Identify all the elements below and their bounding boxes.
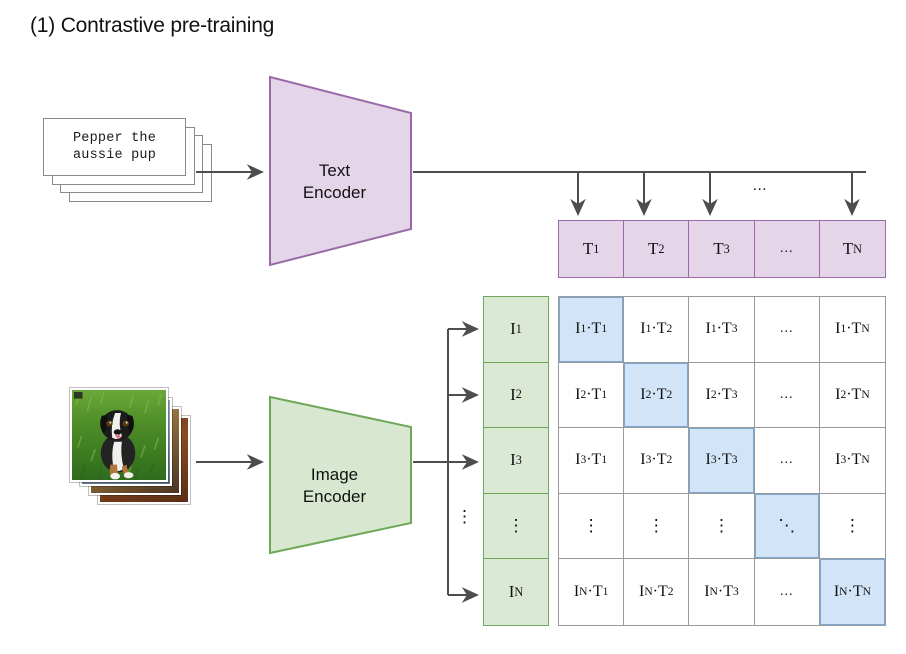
similarity-cell-ellipsis: ... (755, 297, 820, 363)
similarity-cell-ellipsis: ⋱ (755, 494, 820, 560)
image-bus-ellipsis: ⋮ (456, 512, 473, 521)
text-embedding-cell-1: T1 (559, 221, 624, 277)
similarity-cell-i1-t1: I1·T1 (559, 297, 624, 363)
image-encoder-block[interactable]: Image Encoder (268, 395, 413, 555)
page-title: (1) Contrastive pre-training (30, 14, 274, 38)
similarity-cell-ellipsis: ⋮ (689, 494, 754, 560)
text-input-card-stack: Pepper the aussie pup (43, 118, 243, 218)
similarity-cell-ellipsis: ⋮ (820, 494, 885, 560)
image-embedding-cell-N: IN (484, 559, 548, 625)
image-embedding-cell-1: I1 (484, 297, 548, 363)
similarity-cell-i3-t3: I3·T3 (689, 428, 754, 494)
similarity-cell-i3-t1: I3·T1 (559, 428, 624, 494)
image-embedding-ellipsis: ⋮ (484, 494, 548, 560)
text-embedding-cell-2: T2 (624, 221, 689, 277)
similarity-cell-iN-t3: IN·T3 (689, 559, 754, 625)
diagram-canvas: (1) Contrastive pre-training Pepper the … (0, 0, 906, 654)
image-embedding-cell-2: I2 (484, 363, 548, 429)
similarity-matrix: I1·T1I1·T2I1·T3...I1·TNI2·T1I2·T2I2·T3..… (558, 296, 886, 626)
text-embedding-cell-N: TN (820, 221, 885, 277)
similarity-cell-ellipsis: ... (755, 559, 820, 625)
photo-front-puppy (70, 388, 168, 482)
similarity-cell-iN-t2: IN·T2 (624, 559, 689, 625)
similarity-cell-i2-t1: I2·T1 (559, 363, 624, 429)
image-embedding-column: I1I2I3⋮IN (483, 296, 549, 626)
image-input-photo-stack (70, 388, 200, 508)
similarity-cell-i2-tN: I2·TN (820, 363, 885, 429)
text-embedding-ellipsis: ... (755, 221, 820, 277)
similarity-cell-i3-t2: I3·T2 (624, 428, 689, 494)
text-embedding-row: T1T2T3...TN (558, 220, 886, 278)
similarity-cell-i1-tN: I1·TN (820, 297, 885, 363)
text-card-front: Pepper the aussie pup (43, 118, 186, 176)
image-embedding-cell-3: I3 (484, 428, 548, 494)
text-embedding-cell-3: T3 (689, 221, 754, 277)
similarity-cell-iN-tN: IN·TN (820, 559, 885, 625)
top-row-ellipsis: ... (753, 178, 767, 195)
similarity-cell-ellipsis: ... (755, 428, 820, 494)
similarity-cell-i2-t2: I2·T2 (624, 363, 689, 429)
similarity-cell-i1-t2: I1·T2 (624, 297, 689, 363)
text-encoder-label: Text Encoder (303, 138, 366, 204)
text-encoder-block[interactable]: Text Encoder (268, 75, 413, 267)
similarity-cell-iN-t1: IN·T1 (559, 559, 624, 625)
text-caption-label: Pepper the aussie pup (73, 130, 156, 164)
similarity-cell-ellipsis: ⋮ (624, 494, 689, 560)
similarity-cell-ellipsis: ⋮ (559, 494, 624, 560)
similarity-cell-ellipsis: ... (755, 363, 820, 429)
similarity-cell-i3-tN: I3·TN (820, 428, 885, 494)
similarity-cell-i2-t3: I2·T3 (689, 363, 754, 429)
puppy-photo-illustration (72, 390, 166, 480)
image-encoder-label: Image Encoder (303, 442, 366, 508)
similarity-cell-i1-t3: I1·T3 (689, 297, 754, 363)
